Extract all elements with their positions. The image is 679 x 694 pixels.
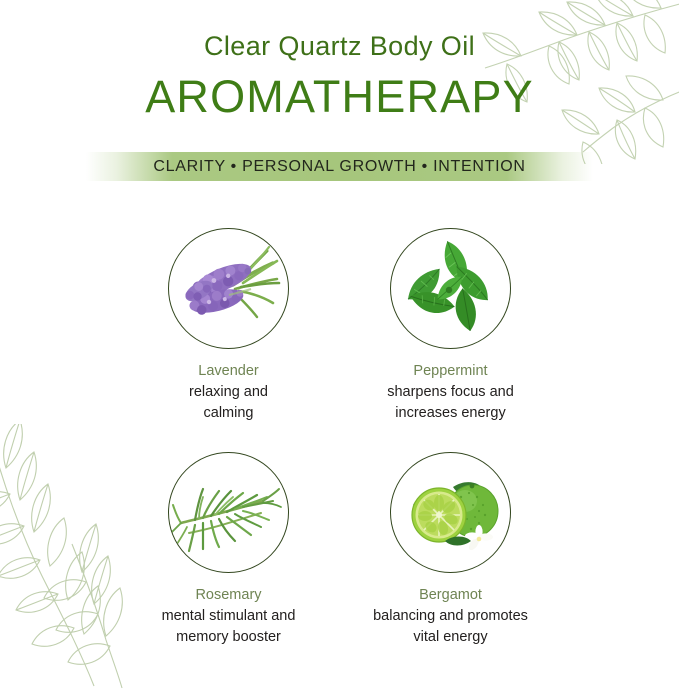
ingredient-description: relaxing and calming	[189, 382, 268, 424]
page-header: Clear Quartz Body Oil AROMATHERAPY	[0, 0, 679, 123]
rosemary-circle	[168, 452, 289, 573]
lavender-sprig-icon	[169, 229, 288, 348]
ingredient-card-bergamot: Bergamot balancing and promotes vital en…	[340, 452, 562, 648]
peppermint-circle	[390, 228, 511, 349]
ingredient-description: balancing and promotes vital energy	[373, 606, 528, 648]
ingredient-row-top: Lavender relaxing and calming	[0, 228, 679, 424]
bergamot-circle	[390, 452, 511, 573]
product-subtitle: Clear Quartz Body Oil	[0, 0, 679, 62]
ingredient-name: Bergamot	[419, 585, 482, 606]
ingredient-description: mental stimulant and memory booster	[162, 606, 296, 648]
rosemary-sprig-icon	[169, 453, 288, 572]
ingredient-card-rosemary: Rosemary mental stimulant and memory boo…	[118, 452, 340, 648]
lavender-circle	[168, 228, 289, 349]
aromatherapy-infographic: Clear Quartz Body Oil AROMATHERAPY CLARI…	[0, 0, 679, 679]
ingredient-description: sharpens focus and increases energy	[387, 382, 514, 424]
ingredient-row-bottom: Rosemary mental stimulant and memory boo…	[0, 452, 679, 648]
ingredient-name: Lavender	[198, 361, 258, 382]
tagline-banner: CLARITY • PERSONAL GROWTH • INTENTION	[86, 152, 593, 181]
page-title: AROMATHERAPY	[0, 62, 679, 123]
ingredient-name: Rosemary	[195, 585, 261, 606]
ingredient-name: Peppermint	[413, 361, 487, 382]
peppermint-leaves-icon	[391, 229, 510, 348]
ingredient-card-peppermint: Peppermint sharpens focus and increases …	[340, 228, 562, 424]
tagline-text: CLARITY • PERSONAL GROWTH • INTENTION	[153, 158, 525, 176]
ingredient-card-lavender: Lavender relaxing and calming	[118, 228, 340, 424]
bergamot-citrus-icon	[391, 453, 510, 572]
ingredient-grid: Lavender relaxing and calming	[0, 228, 679, 648]
